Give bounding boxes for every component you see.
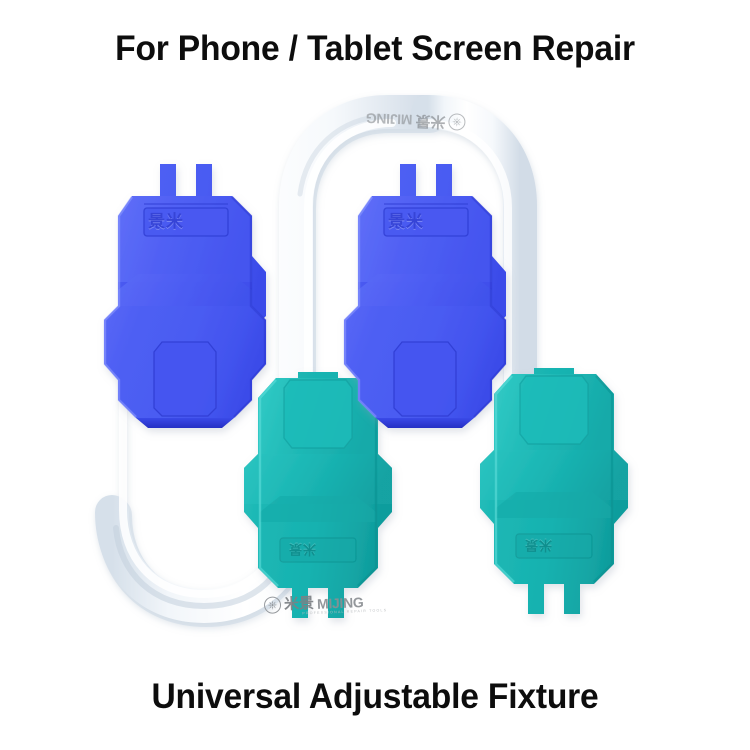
page-title-top: For Phone / Tablet Screen Repair [15,28,735,70]
clamp-green-right[interactable] [480,368,628,614]
product-image-canvas: For Phone / Tablet Screen Repair [0,0,750,750]
product-illustration: 米景 米景 米景 米景 [0,82,750,652]
product-graphic [0,82,750,652]
clamp-blue-right[interactable] [344,164,506,428]
clamp-blue-left[interactable] [104,164,266,428]
page-title-bottom: Universal Adjustable Fixture [15,676,735,718]
